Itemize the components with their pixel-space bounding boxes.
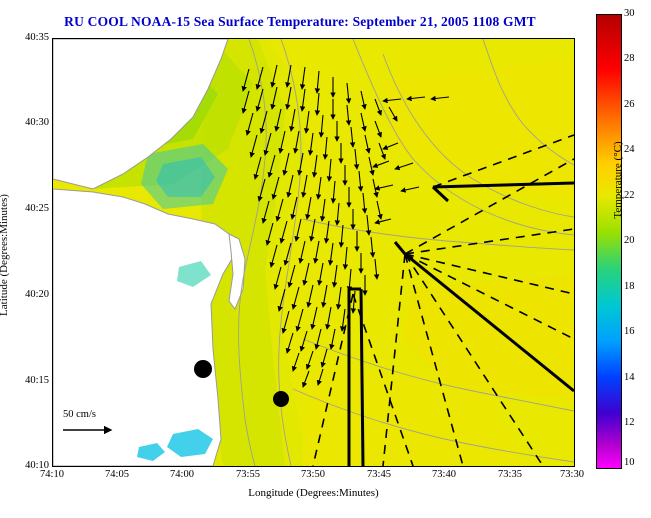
y-axis-ticks: 40:35 40:30 40:25 40:20 40:15 40:10 (0, 38, 49, 467)
colorbar-tick: 28 (624, 53, 635, 64)
station-marker (273, 391, 289, 407)
colorbar-tick: 16 (624, 326, 635, 337)
x-tick: 73:50 (291, 469, 335, 480)
annotation-current-time: September 21, 2005 14:00 GMT (61, 67, 198, 78)
page-title: RU COOL NOAA-15 Sea Surface Temperature:… (0, 14, 600, 30)
colorbar-tick: 20 (624, 235, 635, 246)
x-tick: 73:40 (422, 469, 466, 480)
station-marker (194, 360, 212, 378)
x-axis-ticks: 74:10 74:05 74:00 73:55 73:50 73:45 73:4… (52, 469, 575, 485)
x-tick: 74:05 (95, 469, 139, 480)
y-tick: 40:15 (4, 375, 49, 386)
colorbar-tick: 10 (624, 457, 635, 468)
x-tick: 73:45 (357, 469, 401, 480)
colorbar-tick: 14 (624, 372, 635, 383)
x-tick: 74:00 (160, 469, 204, 480)
x-tick: 73:55 (226, 469, 270, 480)
colorbar-title: Temperature (°C) (612, 20, 624, 180)
y-tick: 40:20 (4, 289, 49, 300)
map-plot-area[interactable]: Raw Surface Current September 21, 2005 1… (52, 38, 575, 467)
x-tick: 73:35 (488, 469, 532, 480)
x-axis-label: Longitude (Degrees:Minutes) (52, 487, 575, 499)
y-tick: 40:35 (4, 32, 49, 43)
colorbar-tick: 22 (624, 190, 635, 201)
colorbar-tick: 12 (624, 417, 635, 428)
colorbar-tick: 18 (624, 281, 635, 292)
sst-map-figure: RU COOL NOAA-15 Sea Surface Temperature:… (0, 0, 651, 518)
y-tick: 40:30 (4, 117, 49, 128)
y-tick: 40:25 (4, 203, 49, 214)
sst-map-canvas (53, 39, 574, 466)
x-tick: 74:10 (30, 469, 74, 480)
colorbar-tick: 26 (624, 99, 635, 110)
x-tick: 73:30 (550, 469, 594, 480)
vector-scale-label: 50 cm/s (63, 409, 96, 420)
colorbar-tick: 30 (624, 8, 635, 19)
colorbar-tick: 24 (624, 144, 635, 155)
annotation-current-label: Raw Surface Current (61, 51, 150, 62)
colorbar-ticks: 30 28 26 24 22 20 18 16 14 12 10 (624, 14, 650, 469)
